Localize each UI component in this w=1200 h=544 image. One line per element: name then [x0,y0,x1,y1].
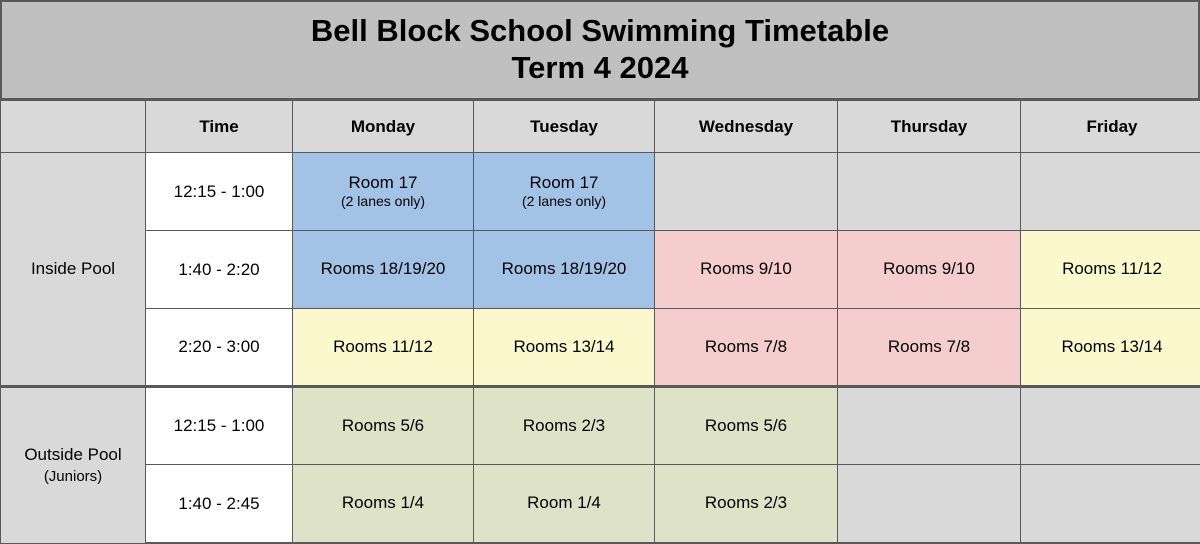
column-header-friday: Friday [1021,101,1200,153]
timetable-body: Inside Pool12:15 - 1:00Room 17(2 lanes o… [1,153,1200,544]
pool-label-text: Outside Pool [24,445,121,464]
header-row: Time Monday Tuesday Wednesday Thursday F… [1,101,1200,153]
schedule-cell: Rooms 9/10 [655,231,838,309]
empty-cell [1021,465,1200,543]
schedule-cell-rooms: Rooms 11/12 [1025,259,1199,280]
time-slot-cell: 1:40 - 2:45 [146,465,293,543]
schedule-cell: Rooms 11/12 [1021,231,1200,309]
empty-cell [838,387,1021,465]
pool-label-2: Outside Pool(Juniors) [1,387,146,543]
schedule-cell: Room 1/4 [474,465,655,543]
schedule-cell: Rooms 2/3 [474,387,655,465]
schedule-cell-rooms: Rooms 5/6 [297,416,469,437]
column-header-time: Time [146,101,293,153]
page-subtitle: Term 4 2024 [512,50,689,87]
schedule-cell: Rooms 5/6 [293,387,474,465]
time-slot-cell: 12:15 - 1:00 [146,153,293,231]
timetable-row: 1:40 - 2:20Rooms 18/19/20Rooms 18/19/20R… [1,231,1200,309]
schedule-cell-rooms: Room 17 [478,173,650,194]
schedule-cell: Rooms 1/4 [293,465,474,543]
schedule-cell: Rooms 2/3 [655,465,838,543]
schedule-cell-rooms: Rooms 13/14 [478,337,650,358]
schedule-cell-rooms: Rooms 1/4 [297,493,469,514]
schedule-cell: Rooms 7/8 [655,309,838,387]
schedule-cell: Rooms 18/19/20 [293,231,474,309]
time-slot-cell: 2:20 - 3:00 [146,309,293,387]
pool-label-1: Inside Pool [1,153,146,387]
timetable-head: Time Monday Tuesday Wednesday Thursday F… [1,101,1200,153]
schedule-cell-rooms: Rooms 2/3 [659,493,833,514]
schedule-cell: Room 17(2 lanes only) [474,153,655,231]
timetable-grid: Time Monday Tuesday Wednesday Thursday F… [0,100,1200,544]
time-slot-cell: 12:15 - 1:00 [146,387,293,465]
schedule-cell-rooms: Rooms 11/12 [297,337,469,358]
column-header-thursday: Thursday [838,101,1021,153]
schedule-cell-note: (2 lanes only) [478,193,650,210]
empty-cell [1021,153,1200,231]
schedule-cell: Rooms 7/8 [838,309,1021,387]
schedule-cell: Rooms 13/14 [474,309,655,387]
timetable-title-banner: Bell Block School Swimming Timetable Ter… [0,0,1200,100]
schedule-cell-rooms: Rooms 2/3 [478,416,650,437]
schedule-cell-rooms: Room 17 [297,173,469,194]
schedule-cell-rooms: Rooms 5/6 [659,416,833,437]
schedule-cell: Rooms 13/14 [1021,309,1200,387]
column-header-wednesday: Wednesday [655,101,838,153]
timetable-row: Outside Pool(Juniors)12:15 - 1:00Rooms 5… [1,387,1200,465]
schedule-cell: Room 17(2 lanes only) [293,153,474,231]
schedule-cell: Rooms 9/10 [838,231,1021,309]
schedule-cell-rooms: Rooms 9/10 [842,259,1016,280]
page-title: Bell Block School Swimming Timetable [311,13,889,50]
empty-cell [838,153,1021,231]
empty-cell [655,153,838,231]
schedule-cell-rooms: Rooms 9/10 [659,259,833,280]
schedule-cell-rooms: Rooms 13/14 [1025,337,1199,358]
pool-label-text: Inside Pool [31,259,115,278]
schedule-cell-rooms: Rooms 18/19/20 [478,259,650,280]
timetable-row: 1:40 - 2:45Rooms 1/4Room 1/4Rooms 2/3 [1,465,1200,543]
timetable-row: Inside Pool12:15 - 1:00Room 17(2 lanes o… [1,153,1200,231]
schedule-cell-note: (2 lanes only) [297,193,469,210]
schedule-cell: Rooms 18/19/20 [474,231,655,309]
pool-sublabel-text: (Juniors) [5,467,141,487]
corner-cell [1,101,146,153]
column-header-monday: Monday [293,101,474,153]
schedule-cell-rooms: Rooms 7/8 [842,337,1016,358]
schedule-cell: Rooms 11/12 [293,309,474,387]
column-header-tuesday: Tuesday [474,101,655,153]
schedule-cell-rooms: Room 1/4 [478,493,650,514]
schedule-cell-rooms: Rooms 7/8 [659,337,833,358]
schedule-cell: Rooms 5/6 [655,387,838,465]
timetable-row: 2:20 - 3:00Rooms 11/12Rooms 13/14Rooms 7… [1,309,1200,387]
empty-cell [838,465,1021,543]
swimming-timetable: Bell Block School Swimming Timetable Ter… [0,0,1200,544]
empty-cell [1021,387,1200,465]
schedule-cell-rooms: Rooms 18/19/20 [297,259,469,280]
time-slot-cell: 1:40 - 2:20 [146,231,293,309]
